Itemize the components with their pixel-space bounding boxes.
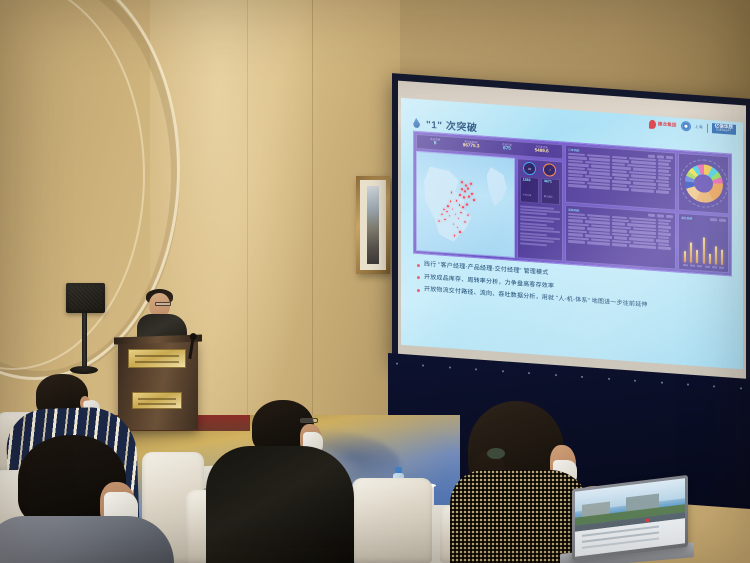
map-marker [473, 199, 475, 201]
artwork-mat [360, 180, 386, 270]
map-marker [464, 191, 466, 193]
podium [118, 340, 198, 430]
map-marker [465, 185, 467, 187]
panel-tab [657, 155, 664, 159]
partner-seal-icon [681, 121, 691, 132]
map-marker [462, 206, 464, 208]
grey-shirt [0, 516, 174, 563]
map-marker [468, 196, 470, 198]
speaker-stand-pole [82, 313, 87, 370]
order-table-bottom: 运输明细 [565, 204, 676, 269]
axis-tick [683, 264, 688, 266]
panel-header: 吞吐趋势 [681, 215, 726, 222]
table-body [568, 153, 673, 194]
laptop-screen[interactable] [575, 478, 685, 557]
mini-card-row: 1283 今日订单 4671 累计发运 [520, 176, 561, 204]
bar [703, 238, 705, 264]
panel-tab [648, 214, 655, 218]
bar [721, 250, 723, 265]
china-distribution-map [416, 151, 515, 258]
grommet [634, 380, 636, 382]
projection-screen: 建龙集团 上海 亿信华辰 ESENSOFT "1" 次突破 在途 [392, 73, 750, 387]
panel-title: 运输明细 [568, 207, 579, 212]
panel-title: 吞吐趋势 [681, 215, 692, 220]
map-marker [466, 204, 468, 206]
grommet [581, 376, 583, 378]
panel-title: 订单明细 [568, 148, 579, 153]
map-marker [438, 220, 440, 222]
map-marker [459, 204, 461, 206]
grommet [687, 383, 689, 385]
dashboard-right-column: 订单明细 [565, 145, 729, 274]
table-body [568, 212, 673, 250]
map-marker [471, 193, 473, 195]
artwork-image [367, 186, 379, 264]
map-marker [447, 205, 449, 207]
jianlong-mark-icon [649, 119, 656, 129]
hair-tie [487, 448, 505, 459]
speaker-stand-base [70, 366, 98, 374]
kpi-item: 今日发运量 5489.6 [535, 146, 549, 154]
grommet [608, 378, 610, 380]
grommet [555, 374, 557, 376]
conference-room-scene: 建龙集团 上海 亿信华辰 ESENSOFT "1" 次突破 在途 [0, 0, 750, 563]
map-landmass-japan [487, 167, 508, 208]
bullet-dot-icon [417, 276, 420, 279]
mini-card-value: 4671 [544, 180, 557, 185]
throughput-bar-chart: 吞吐趋势 [678, 212, 729, 273]
kpi-value: 675 [502, 146, 512, 151]
panel-tab [710, 218, 717, 222]
grommet [740, 387, 742, 389]
axis-tick [697, 265, 702, 267]
panel-tab [666, 155, 673, 159]
map-marker [456, 200, 458, 202]
map-landmass-china [423, 166, 493, 247]
glasses-icon [300, 418, 318, 423]
panel-tab [648, 154, 655, 158]
order-table-top: 订单明细 [565, 145, 676, 210]
kpi-item: 累计运量(吨) 96775.3 [463, 141, 480, 150]
mini-card: 4671 累计发运 [541, 178, 560, 205]
map-marker [467, 188, 469, 190]
category-donut-chart [678, 153, 729, 214]
exception-gauge: 7 [543, 163, 556, 177]
grommet [661, 382, 663, 384]
panel-tab [666, 215, 673, 219]
map-marker [461, 188, 463, 190]
logo-divider [707, 123, 708, 132]
grommet [713, 385, 715, 387]
esensoft-logo: 亿信华辰 ESENSOFT [712, 123, 736, 134]
kpi-value: 8 [430, 141, 440, 146]
axis-tick [705, 265, 710, 267]
bar-series [682, 228, 726, 266]
slide-logo-row: 建龙集团 上海 亿信华辰 ESENSOFT [649, 119, 736, 135]
kpi-value: 96775.3 [463, 144, 480, 150]
framed-artwork [356, 176, 390, 274]
mini-card-label: 今日订单 [523, 194, 532, 197]
bar [715, 247, 717, 265]
axis-tick [712, 266, 717, 268]
map-marker [464, 221, 466, 223]
logistics-analytics-dashboard: 在途车辆 8 累计运量(吨) 96775.3 在途订单 675 今日发运量 [413, 131, 732, 277]
map-side-panel: 92 7 1283 今日订单 4671 累计发运 [517, 158, 564, 261]
map-marker [461, 182, 463, 184]
black-polo-shirt [206, 446, 354, 563]
grommet [396, 363, 398, 365]
audience-laptop[interactable] [572, 475, 688, 561]
map-and-side-row: 92 7 1283 今日订单 4671 累计发运 [416, 151, 563, 262]
gauge-row: 92 7 [520, 161, 561, 177]
dashboard-bottom-row: 运输明细 [565, 204, 729, 273]
panel-tabs [710, 218, 726, 222]
panel-tab [657, 214, 664, 218]
kpi-value: 5489.6 [535, 149, 549, 155]
map-marker [470, 183, 472, 185]
wall-speaker-icon [66, 283, 105, 313]
completion-gauge: 92 [523, 162, 536, 176]
wall-panel-seam-2 [247, 0, 248, 430]
jianlong-group-logo: 建龙集团 [649, 119, 677, 130]
mini-card: 1283 今日订单 [520, 176, 539, 203]
bullet-dot-icon [417, 289, 420, 292]
chair [352, 478, 432, 563]
wall-panel-seam [312, 0, 313, 430]
grommet [475, 368, 477, 370]
donut-wrap [681, 156, 726, 211]
side-detail-list [520, 204, 561, 258]
grommet [422, 364, 424, 366]
grommet [502, 370, 504, 372]
bar [696, 250, 698, 264]
map-marker [459, 194, 461, 196]
podium-plaque-upper [128, 349, 186, 368]
partner-logo-text: 上海 [695, 124, 703, 131]
mini-card-value: 1283 [523, 179, 536, 184]
axis-tick [690, 264, 695, 266]
podium-plaque-lower [132, 392, 182, 409]
presentation-slide: 建龙集团 上海 亿信华辰 ESENSOFT "1" 次突破 在途 [401, 98, 743, 370]
donut-chart-column [678, 153, 729, 214]
water-drop-icon [413, 117, 421, 127]
houndstooth-top [450, 470, 590, 563]
axis-tick [719, 266, 724, 268]
bar [684, 251, 686, 263]
dashboard-top-row: 订单明细 [565, 145, 729, 214]
cursor-icon [645, 519, 649, 522]
esensoft-logo-subtext: ESENSOFT [715, 129, 733, 133]
bar [709, 254, 711, 264]
mini-card-label: 累计发运 [544, 196, 553, 199]
kpi-item: 在途订单 675 [502, 144, 512, 152]
grommet [449, 366, 451, 368]
bar-chart-column: 吞吐趋势 [678, 212, 729, 273]
bar [690, 243, 692, 263]
grommet [528, 372, 530, 374]
list-item [520, 242, 548, 246]
map-marker [463, 196, 465, 198]
glasses-icon [155, 302, 171, 306]
kpi-item: 在途车辆 8 [430, 139, 440, 147]
jianlong-logo-text: 建龙集团 [658, 122, 677, 128]
dashboard-left-column: 在途车辆 8 累计运量(吨) 96775.3 在途订单 675 今日发运量 [416, 134, 563, 262]
panel-tab [719, 219, 726, 223]
bullet-dot-icon [417, 263, 420, 266]
